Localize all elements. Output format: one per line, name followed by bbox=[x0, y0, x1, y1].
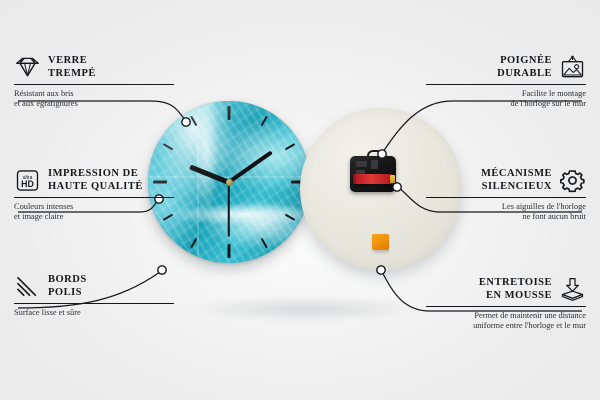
feature-header: POIGNÉE DURABLE bbox=[426, 55, 586, 80]
feature-desc-line2: et aux égratignures bbox=[14, 99, 174, 109]
feature-title: BORDS POLIS bbox=[48, 274, 87, 299]
mechanism-detail bbox=[356, 161, 367, 167]
feature-divider bbox=[14, 303, 174, 304]
feature-desc-line1: Permet de maintenir une distance bbox=[426, 311, 586, 321]
feature-title: MÉCANISME SILENCIEUX bbox=[481, 168, 552, 193]
feature-desc-line1: Les aiguilles de l'horloge bbox=[426, 202, 586, 212]
product-floor-shadow bbox=[150, 292, 460, 326]
feature-title: VERRE TREMPÉ bbox=[48, 55, 96, 80]
feature-desc-line2: et image claire bbox=[14, 212, 174, 222]
feature-title-line2: HAUTE QUALITÉ bbox=[48, 181, 143, 194]
feature-title-line2: POLIS bbox=[48, 287, 87, 300]
feature-description: Surface lisse et sûre bbox=[14, 308, 174, 318]
feature-title-line1: POIGNÉE bbox=[497, 55, 552, 68]
feature-description: Permet de maintenir une distance uniform… bbox=[426, 311, 586, 332]
feature-description: Les aiguilles de l'horloge ne font aucun… bbox=[426, 202, 586, 223]
feature-bords-polis: BORDS POLIS Surface lisse et sûre bbox=[14, 274, 174, 318]
feature-title-line2: TREMPÉ bbox=[48, 68, 96, 81]
feature-description: Résistant aux bris et aux égratignures bbox=[14, 89, 174, 110]
foam-spacer bbox=[372, 234, 389, 250]
feature-desc-line2: ne font aucun bruit bbox=[426, 212, 586, 222]
feature-title-line1: MÉCANISME bbox=[481, 168, 552, 181]
ultra-hd-icon: ultra HD bbox=[14, 168, 41, 193]
feature-divider bbox=[426, 84, 586, 85]
feature-title: POIGNÉE DURABLE bbox=[497, 55, 552, 80]
feature-title: IMPRESSION DE HAUTE QUALITÉ bbox=[48, 168, 143, 193]
feature-title-line1: IMPRESSION DE bbox=[48, 168, 143, 181]
battery-terminal bbox=[390, 175, 395, 183]
feature-divider bbox=[426, 306, 586, 307]
feature-poignee-durable: POIGNÉE DURABLE Facilite le montage de l… bbox=[426, 55, 586, 110]
feature-desc-line2: uniforme entre l'horloge et le mur bbox=[426, 321, 586, 331]
battery bbox=[353, 174, 393, 184]
infographic-canvas: VERRE TREMPÉ Résistant aux bris et aux é… bbox=[0, 0, 600, 400]
feature-title-line2: DURABLE bbox=[497, 68, 552, 81]
feature-title-line1: BORDS bbox=[48, 274, 87, 287]
feature-title-line1: ENTRETOISE bbox=[479, 277, 552, 290]
feature-desc-line2: de l'horloge sur le mur bbox=[426, 99, 586, 109]
clock-mechanism bbox=[350, 150, 396, 192]
feature-header: VERRE TREMPÉ bbox=[14, 55, 174, 80]
feature-header: ENTRETOISE EN MOUSSE bbox=[426, 277, 586, 302]
hanging-frame-icon bbox=[559, 55, 586, 80]
feature-title-line1: VERRE bbox=[48, 55, 96, 68]
mechanism-detail bbox=[371, 160, 378, 169]
feature-description: Couleurs intenses et image claire bbox=[14, 202, 174, 223]
connector-dot-bords-polis bbox=[158, 266, 166, 274]
diamond-icon bbox=[14, 55, 41, 80]
feature-impression-haute-qualite: ultra HD IMPRESSION DE HAUTE QUALITÉ Cou… bbox=[14, 168, 174, 223]
foam-spacer-icon bbox=[559, 277, 586, 302]
feature-description: Facilite le montage de l'horloge sur le … bbox=[426, 89, 586, 110]
feature-divider bbox=[14, 197, 174, 198]
feature-header: ultra HD IMPRESSION DE HAUTE QUALITÉ bbox=[14, 168, 174, 193]
polished-edge-icon bbox=[14, 274, 41, 299]
feature-desc-line1: Surface lisse et sûre bbox=[14, 308, 174, 318]
feature-header: BORDS POLIS bbox=[14, 274, 174, 299]
feature-divider bbox=[426, 197, 586, 198]
feature-divider bbox=[14, 84, 174, 85]
feature-entretoise-en-mousse: ENTRETOISE EN MOUSSE Permet de maintenir… bbox=[426, 277, 586, 332]
feature-verre-trempe: VERRE TREMPÉ Résistant aux bris et aux é… bbox=[14, 55, 174, 110]
feature-title: ENTRETOISE EN MOUSSE bbox=[479, 277, 552, 302]
feature-header: MÉCANISME SILENCIEUX bbox=[426, 168, 586, 193]
feature-desc-line1: Facilite le montage bbox=[426, 89, 586, 99]
feature-desc-line1: Résistant aux bris bbox=[14, 89, 174, 99]
feature-title-line2: EN MOUSSE bbox=[479, 290, 552, 303]
feature-title-line2: SILENCIEUX bbox=[481, 181, 552, 194]
feature-desc-line1: Couleurs intenses bbox=[14, 202, 174, 212]
gear-icon bbox=[559, 168, 586, 193]
ultra-hd-icon-bottom-text: HD bbox=[21, 179, 34, 189]
feature-mecanisme-silencieux: MÉCANISME SILENCIEUX Les aiguilles de l'… bbox=[426, 168, 586, 223]
